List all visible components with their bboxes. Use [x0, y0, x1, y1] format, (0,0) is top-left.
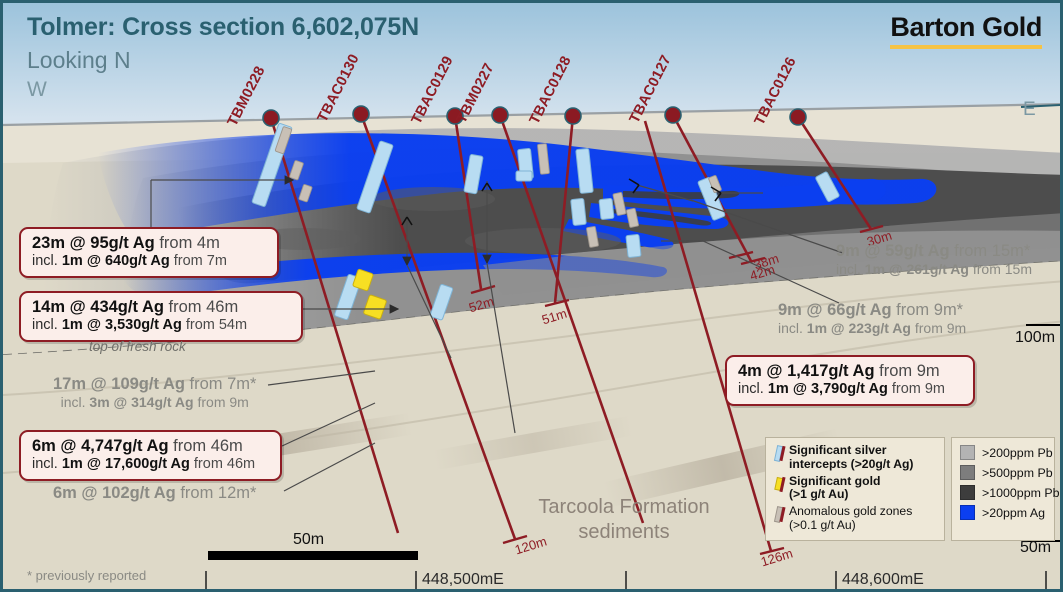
silver-intercept-icon — [773, 444, 789, 462]
east-label: E — [1023, 99, 1036, 121]
legend-swatch-pb1000: >1000ppm Pb — [960, 485, 1049, 500]
legend-swatches: >200ppm Pb >500ppm Pb >1000ppm Pb >20ppm… — [951, 437, 1055, 541]
legend-symbols: Significant silver intercepts (>20g/t Ag… — [765, 437, 945, 541]
callout-line1: 23m @ 95g/t Ag from 4m — [32, 234, 266, 253]
formation-label: Tarcoola Formation sediments — [519, 495, 729, 545]
legend-text-gold: Significant gold (>1 g/t Au) — [789, 475, 880, 503]
note-9m-66: 9m @ 66g/t Ag from 9m* incl. 1m @ 223g/t… — [778, 301, 966, 337]
formation-line2: sediments — [519, 520, 729, 545]
west-label: W — [27, 78, 47, 102]
axis-label-448600mE: 448,600mE — [842, 571, 924, 589]
legend-swatch-ag20: >20ppm Ag — [960, 505, 1049, 520]
callout-4m-1417: 4m @ 1,417g/t Ag from 9m incl. 1m @ 3,79… — [725, 355, 975, 406]
anomalous-gold-icon — [773, 505, 789, 523]
scale-bar-label: 50m — [293, 531, 324, 549]
note-line1: 9m @ 66g/t Ag from 9m* — [778, 301, 966, 320]
note-line1: 6m @ 102g/t Ag from 12m* — [53, 484, 256, 503]
brand-underline — [890, 45, 1042, 49]
callout-line1: 4m @ 1,417g/t Ag from 9m — [738, 362, 962, 381]
top-of-fresh-rock-label: top of fresh rock — [89, 339, 186, 354]
scale-bar — [208, 551, 418, 560]
legend-swatch-pb200: >200ppm Pb — [960, 445, 1049, 460]
legend-swatch-label: >1000ppm Pb — [982, 486, 1060, 500]
note-9m-59: 9m @ 59g/t Ag from 15m* incl. 1m @ 261g/… — [836, 242, 1032, 278]
legend-swatch-pb500: >500ppm Pb — [960, 465, 1049, 480]
page-title-bold: Tolmer: — [27, 13, 115, 41]
legend-item-anomalous: Anomalous gold zones (>0.1 g/t Au) — [773, 505, 938, 533]
callout-line2: incl. 1m @ 640g/t Ag from 7m — [32, 253, 266, 270]
legend-swatch-label: >20ppm Ag — [982, 506, 1045, 520]
brand-name: Barton Gold — [890, 12, 1042, 43]
gold-intercept-icon — [773, 475, 789, 493]
swatch-pb500-icon — [960, 465, 975, 480]
legend-item-silver: Significant silver intercepts (>20g/t Ag… — [773, 444, 938, 472]
formation-line1: Tarcoola Formation — [519, 495, 729, 520]
legend-swatch-label: >500ppm Pb — [982, 466, 1053, 480]
legend-swatch-label: >200ppm Pb — [982, 446, 1053, 460]
note-line2: incl. 1m @ 223g/t Ag from 9m — [778, 320, 966, 337]
swatch-pb200-icon — [960, 445, 975, 460]
brand-logo: Barton Gold — [890, 12, 1042, 49]
swatch-pb1000-icon — [960, 485, 975, 500]
footnote: * previously reported — [27, 568, 146, 583]
depth-label-100m: 100m — [1015, 329, 1055, 347]
note-6m-102: 6m @ 102g/t Ag from 12m* — [53, 484, 256, 503]
callout-line2: incl. 1m @ 3,790g/t Ag from 9m — [738, 381, 962, 398]
swatch-ag20-icon — [960, 505, 975, 520]
page-title-rest: Cross section 6,602,075N — [115, 13, 419, 41]
callout-line2: incl. 1m @ 17,600g/t Ag from 46m — [32, 456, 269, 473]
note-line2: incl. 1m @ 261g/t Ag from 15m — [836, 261, 1032, 278]
axis-label-448500mE: 448,500mE — [422, 571, 504, 589]
page-title: Tolmer: Cross section 6,602,075N — [27, 13, 419, 42]
callout-line1: 6m @ 4,747g/t Ag from 46m — [32, 437, 269, 456]
callout-14m: 14m @ 434g/t Ag from 46m incl. 1m @ 3,53… — [19, 291, 303, 342]
legend-text-silver: Significant silver intercepts (>20g/t Ag… — [789, 444, 914, 472]
note-17m: 17m @ 109g/t Ag from 7m* incl. 3m @ 314g… — [53, 375, 256, 411]
legend-text-anomalous: Anomalous gold zones (>0.1 g/t Au) — [789, 505, 912, 533]
note-line1: 9m @ 59g/t Ag from 15m* — [836, 242, 1032, 261]
note-line1: 17m @ 109g/t Ag from 7m* — [53, 375, 256, 394]
callout-line2: incl. 1m @ 3,530g/t Ag from 54m — [32, 317, 290, 334]
page-subtitle: Looking N — [27, 47, 131, 74]
note-line2: incl. 3m @ 314g/t Ag from 9m — [53, 394, 256, 411]
callout-line1: 14m @ 434g/t Ag from 46m — [32, 298, 290, 317]
depth-label-50m: 50m — [1020, 539, 1051, 557]
cross-section-figure: Tolmer: Cross section 6,602,075N Looking… — [0, 0, 1063, 592]
callout-6m-4747: 6m @ 4,747g/t Ag from 46m incl. 1m @ 17,… — [19, 430, 282, 481]
callout-23m: 23m @ 95g/t Ag from 4m incl. 1m @ 640g/t… — [19, 227, 279, 278]
legend-item-gold: Significant gold (>1 g/t Au) — [773, 475, 938, 503]
